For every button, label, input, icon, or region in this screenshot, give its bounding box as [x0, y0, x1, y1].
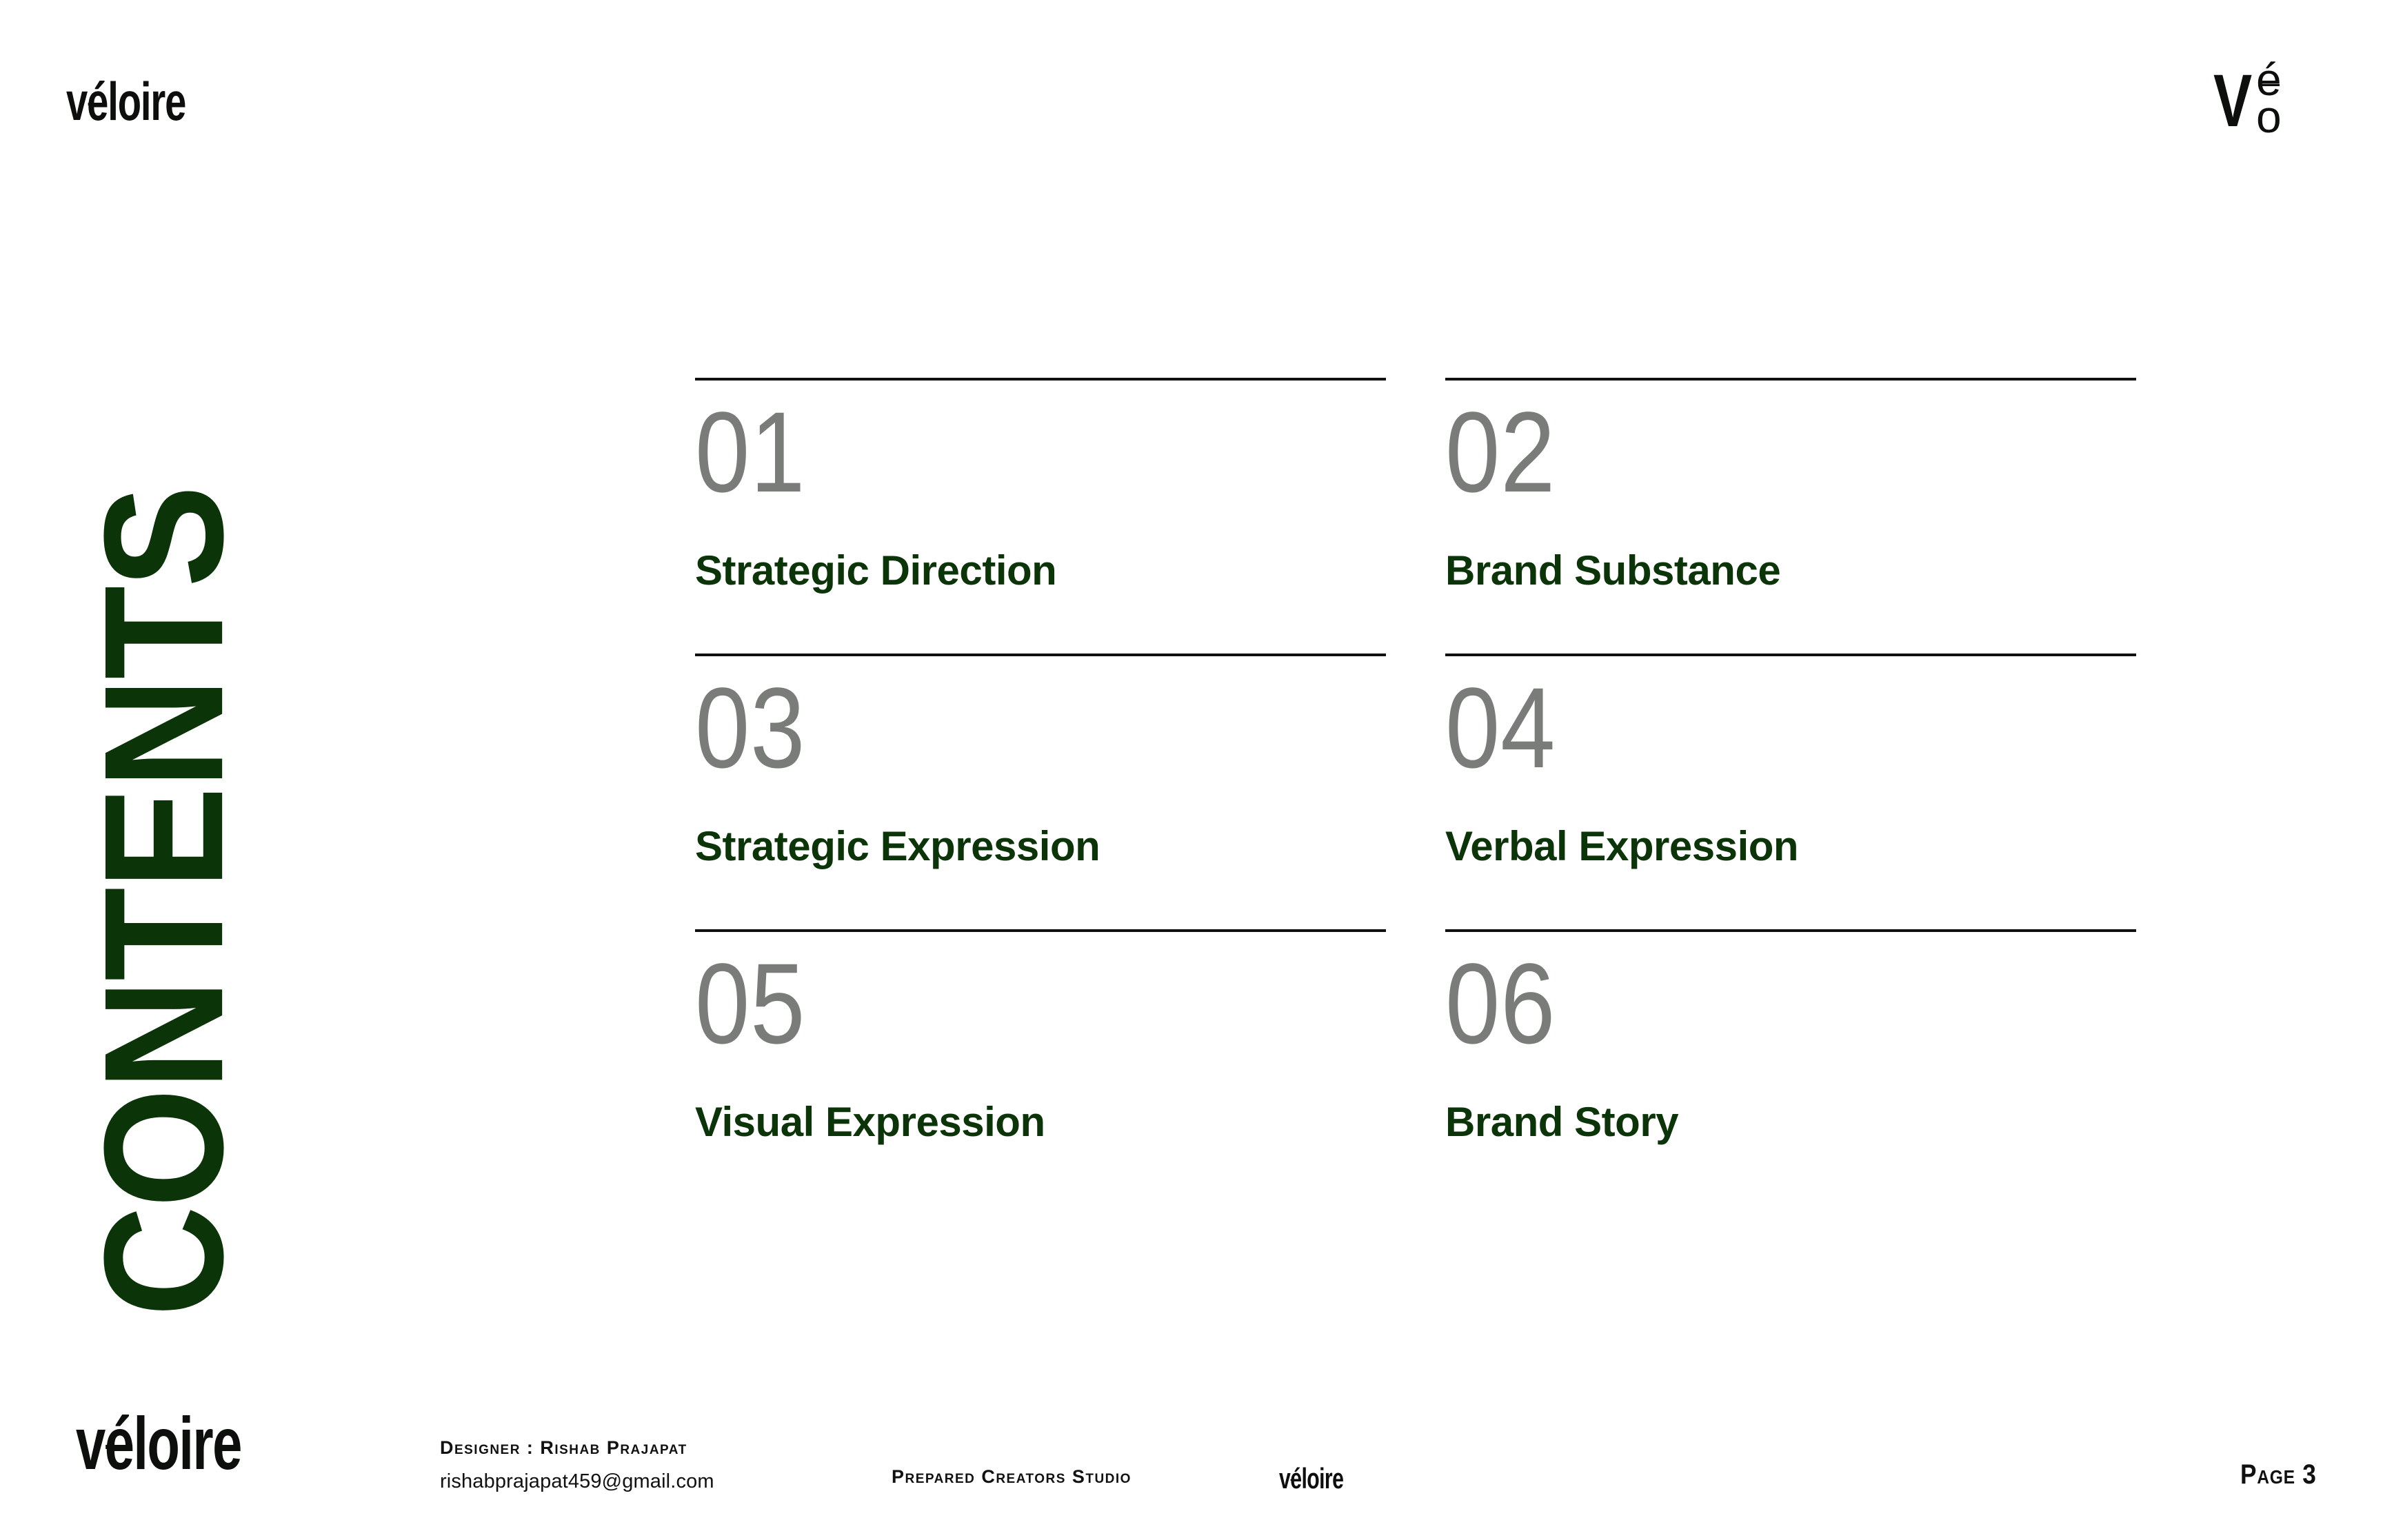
- footer: véloire Designer : Rishab Prajapat risha…: [0, 1381, 2383, 1540]
- contents-entry-06[interactable]: 06 Brand Story: [1445, 929, 2136, 1205]
- contents-slide: véloire V é o CONTENTS 01 Strategic Dire…: [0, 0, 2383, 1540]
- brand-monogram-top-right: V é o: [2213, 61, 2317, 143]
- entry-divider: [1445, 929, 2136, 932]
- footer-email[interactable]: rishabprajapat459@gmail.com: [440, 1470, 714, 1493]
- wordmark-accent: é: [105, 1406, 134, 1481]
- page-title-text: CONTENTS: [86, 747, 242, 1317]
- contents-list: 01 Strategic Direction 02 Brand Substanc…: [695, 378, 2136, 1205]
- wordmark-accent: é: [1290, 1464, 1301, 1493]
- wordmark-post: loire: [108, 71, 185, 132]
- monogram-v: V: [2213, 63, 2252, 138]
- contents-entry-02[interactable]: 02 Brand Substance: [1445, 378, 2136, 654]
- entry-number: 06: [1445, 947, 2040, 1062]
- wordmark-pre: v: [66, 71, 87, 132]
- contents-entry-05[interactable]: 05 Visual Expression: [695, 929, 1386, 1205]
- entry-divider: [1445, 378, 2136, 381]
- contents-entry-04[interactable]: 04 Verbal Expression: [1445, 654, 2136, 929]
- page-title: CONTENTS: [86, 724, 238, 1317]
- entry-divider: [695, 929, 1386, 932]
- brand-logo-top-left: véloire: [66, 74, 185, 128]
- monogram-stack: é o: [2256, 61, 2282, 135]
- entry-label[interactable]: Strategic Expression: [695, 824, 1386, 868]
- entry-label[interactable]: Brand Substance: [1445, 549, 2136, 592]
- entry-number: 05: [695, 947, 1289, 1062]
- wordmark-post: loire: [133, 1401, 241, 1485]
- footer-designer-credit: Designer : Rishab Prajapat: [440, 1433, 687, 1463]
- entry-number: 02: [1445, 396, 2040, 510]
- entry-label[interactable]: Verbal Expression: [1445, 824, 2136, 868]
- entry-number: 04: [1445, 671, 2040, 786]
- entry-number: 03: [695, 671, 1289, 786]
- entry-label[interactable]: Strategic Direction: [695, 549, 1386, 592]
- contents-entry-01[interactable]: 01 Strategic Direction: [695, 378, 1386, 654]
- entry-divider: [1445, 654, 2136, 656]
- wordmark-pre: v: [76, 1401, 105, 1485]
- page-number: Page 3: [2241, 1459, 2317, 1490]
- wordmark-accent: é: [87, 74, 108, 128]
- contents-entry-03[interactable]: 03 Strategic Expression: [695, 654, 1386, 929]
- entry-number: 01: [695, 396, 1289, 510]
- wordmark-post: loire: [1301, 1462, 1343, 1495]
- brand-logo-footer: véloire: [76, 1406, 241, 1481]
- entry-label[interactable]: Visual Expression: [695, 1100, 1386, 1144]
- entry-divider: [695, 378, 1386, 381]
- entry-label[interactable]: Brand Story: [1445, 1100, 2136, 1144]
- footer-prepared-by: Prepared Creators Studio: [892, 1466, 1132, 1488]
- entry-divider: [695, 654, 1386, 656]
- wordmark-pre: v: [1279, 1462, 1290, 1495]
- brand-logo-footer-mini: véloire: [1279, 1464, 1343, 1493]
- monogram-e: é: [2256, 61, 2282, 98]
